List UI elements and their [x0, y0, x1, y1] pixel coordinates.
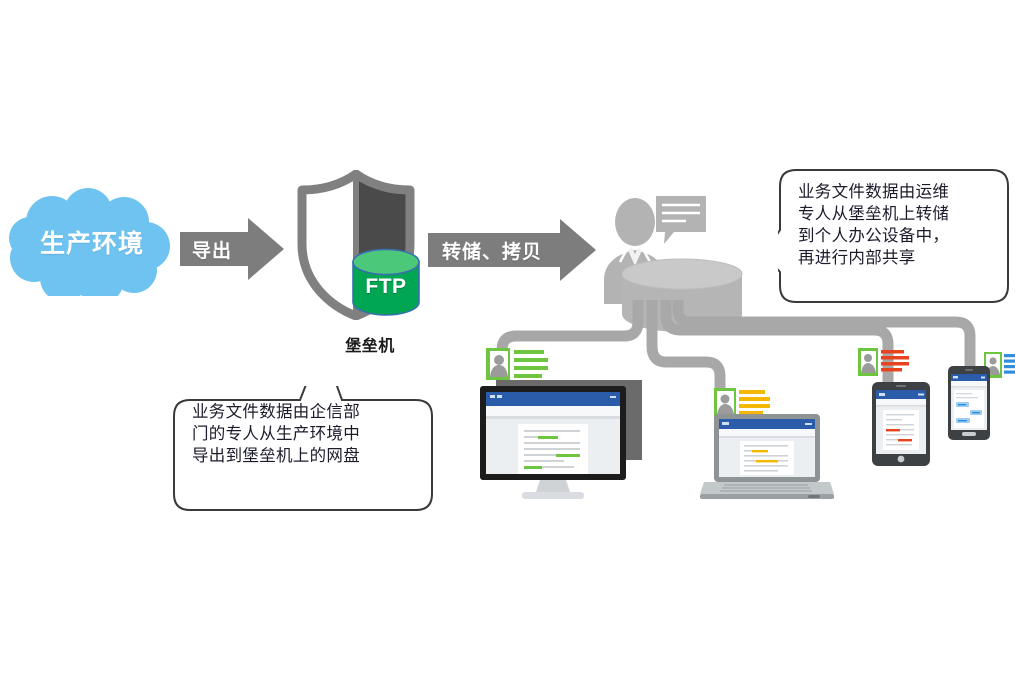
diagram-canvas: 生产环境 导出 FTP 堡垒机 — [0, 0, 1015, 675]
arrow-export: 导出 — [180, 218, 284, 280]
arrow-transfer-copy: 转储、拷贝 — [428, 219, 596, 281]
ftp-label: FTP — [351, 248, 421, 316]
arrow-transfer-copy-label: 转储、拷贝 — [428, 219, 596, 281]
callout-operator-text: 业务文件数据由运维 专人从堡垒机上转储 到个人办公设备中， 再进行内部共享 — [798, 182, 996, 270]
contact-card-icon-desktop — [486, 348, 548, 380]
callout-bastion-text: 业务文件数据由企信部 门的专人从生产环境中 导出到堡垒机上的网盘 — [192, 402, 418, 468]
smartphone — [948, 366, 990, 440]
cloud-label: 生产环境 — [8, 188, 176, 296]
desktop-monitor — [478, 378, 648, 502]
bastion-host-label: 堡垒机 — [310, 332, 430, 356]
arrow-export-label: 导出 — [180, 218, 284, 280]
laptop — [700, 412, 834, 502]
callout-operator: 业务文件数据由运维 专人从堡垒机上转储 到个人办公设备中， 再进行内部共享 — [778, 168, 1010, 304]
contact-card-icon-tablet — [858, 348, 910, 376]
tablet — [872, 382, 930, 466]
callout-bastion: 业务文件数据由企信部 门的专人从生产环境中 导出到堡垒机上的网盘 — [172, 386, 434, 512]
